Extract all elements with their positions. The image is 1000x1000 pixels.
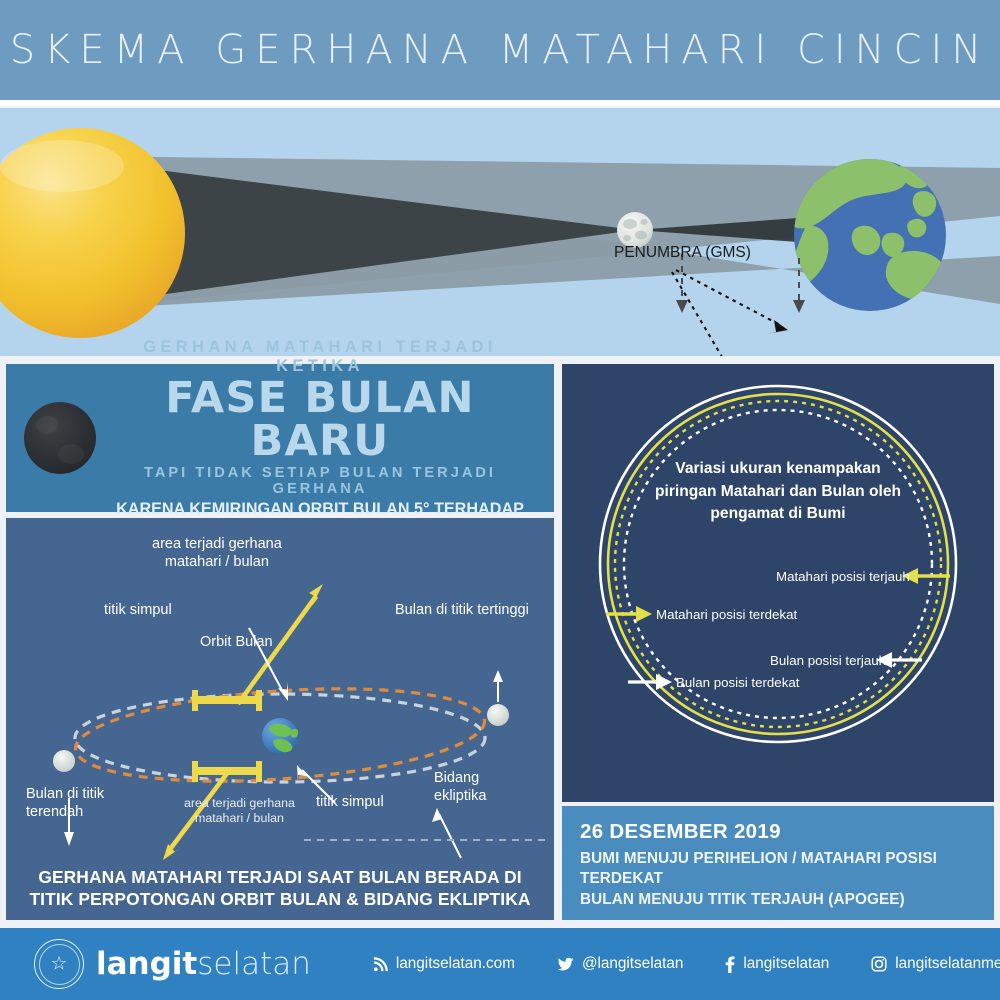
social-link-instagram[interactable]: langitselatanmedia (871, 955, 1000, 973)
twitter-icon (557, 957, 574, 972)
lunar-orbit-panel: area terjadi gerhana matahari / bulan ti… (6, 518, 554, 920)
eclipse-geometry-diagram: PENUMBRA (GMS) UMBRA (GMT) ANTUMBRA (GMC… (0, 108, 1000, 356)
event-date: 26 DESEMBER 2019 (580, 820, 994, 844)
social-label-instagram: langitselatanmedia (895, 955, 1000, 973)
event-notes: BUMI MENUJU PERIHELION / MATAHARI POSISI… (580, 849, 994, 910)
label-ecliptic-l2: ekliptika (434, 788, 486, 806)
node-marker-top (192, 690, 262, 711)
social-link-twitter[interactable]: @langitselatan (557, 955, 683, 973)
label-moon-far: Bulan posisi terjauh (770, 653, 886, 668)
rings-title: Variasi ukuran kenampakan piringan Matah… (628, 458, 928, 526)
new-moon-icon (24, 402, 96, 474)
infographic-root: SKEMA GERHANA MATAHARI CINCIN (0, 0, 1000, 1000)
seal-ring (35, 940, 83, 988)
label-eclipse-area-top-l2: matahari / bulan (152, 554, 282, 572)
social-label-facebook: langitselatan (743, 955, 829, 973)
langitselatan-seal-logo[interactable]: ☆ (34, 939, 84, 989)
orbit-svg (6, 518, 554, 920)
label-node-bottom: titik simpul (316, 794, 384, 812)
label-moon-low-l2: terendah (26, 804, 104, 822)
social-label-twitter: @langitselatan (582, 955, 683, 973)
eclipse-svg (0, 108, 1000, 356)
phase-line-3: TAPI TIDAK SETIAP BULAN TERJADI GERHANA (96, 465, 544, 497)
rings-title-l2: piringan Matahari dan Bulan oleh (628, 481, 928, 504)
label-node-top: titik simpul (104, 602, 172, 620)
label-eclipse-area-top-l1: area terjadi gerhana (152, 536, 282, 554)
brand-bold: langit (96, 946, 197, 982)
rss-icon (373, 957, 388, 972)
facebook-icon (725, 956, 735, 973)
moon-highest-point (487, 704, 509, 726)
footer-bar: ☆ langitselatan langitselatan.com (0, 928, 1000, 1000)
event-note-l1: BUMI MENUJU PERIHELION / MATAHARI POSISI… (580, 849, 994, 890)
label-ecliptic-plane: Bidang ekliptika (434, 770, 486, 805)
label-moon-near: Bulan posisi terdekat (676, 675, 799, 690)
penumbra-leader-arrows (672, 270, 782, 356)
social-link-facebook[interactable]: langitselatan (725, 955, 829, 973)
umbra-arrowhead (676, 300, 688, 313)
moon-high-arrowhead (493, 670, 503, 682)
rings-title-l3: pengamat di Bumi (628, 503, 928, 526)
page-title: SKEMA GERHANA MATAHARI CINCIN (10, 27, 991, 73)
orbit-caption: GERHANA MATAHARI TERJADI SAAT BULAN BERA… (6, 866, 554, 910)
rings-title-l1: Variasi ukuran kenampakan (628, 458, 928, 481)
penumbra-arrowhead-1 (766, 320, 788, 334)
ring-moon-near (624, 410, 932, 718)
brand-light: selatan (197, 946, 311, 982)
antumbra-arrowhead (793, 300, 805, 313)
moon-low-arrowhead (64, 832, 74, 846)
label-moon-highest: Bulan di titik tertinggi (395, 602, 529, 620)
event-note-l2: BULAN MENUJU TITIK TERJAUH (APOGEE) (580, 890, 994, 910)
social-links-row: langitselatan.com @langitselatan langits… (373, 955, 1000, 973)
social-link-website[interactable]: langitselatan.com (373, 955, 515, 973)
apparent-size-panel: Variasi ukuran kenampakan piringan Matah… (562, 364, 994, 802)
label-sun-far: Matahari posisi terjauh (776, 569, 910, 584)
orbit-caption-l2: TITIK PERPOTONGAN ORBIT BULAN & BIDANG E… (6, 888, 554, 910)
header-divider (0, 100, 1000, 106)
social-label-website: langitselatan.com (396, 955, 515, 973)
moon-sphere (617, 212, 653, 248)
earth-center-icon (262, 718, 298, 754)
label-penumbra: PENUMBRA (GMS) (614, 244, 751, 262)
brand-wordmark[interactable]: langitselatan (96, 949, 311, 980)
label-moon-low-l1: Bulan di titik (26, 786, 104, 804)
label-sun-near: Matahari posisi terdekat (656, 607, 797, 622)
new-moon-phase-panel: GERHANA MATAHARI TERJADI KETIKA FASE BUL… (6, 364, 554, 512)
label-moon-lowest: Bulan di titik terendah (26, 786, 104, 821)
orbit-caption-l1: GERHANA MATAHARI TERJADI SAAT BULAN BERA… (6, 866, 554, 888)
moon-lowest-point (53, 750, 75, 772)
instagram-icon (871, 956, 887, 972)
label-eclipse-area-bottom-l1: area terjadi gerhana (184, 796, 295, 811)
label-eclipse-area-top: area terjadi gerhana matahari / bulan (152, 536, 282, 571)
label-ecliptic-l1: Bidang (434, 770, 486, 788)
seal-horse-icon: ☆ (50, 955, 67, 974)
phase-text-block: GERHANA MATAHARI TERJADI KETIKA FASE BUL… (96, 338, 554, 537)
label-eclipse-area-bottom-l2: matahari / bulan (184, 811, 295, 826)
phase-line-1: GERHANA MATAHARI TERJADI KETIKA (96, 338, 544, 376)
label-orbit-bulan: Orbit Bulan (200, 634, 273, 652)
label-eclipse-area-bottom: area terjadi gerhana matahari / bulan (184, 796, 295, 826)
phase-line-2: FASE BULAN BARU (96, 377, 544, 461)
date-info-panel: 26 DESEMBER 2019 BUMI MENUJU PERIHELION … (562, 806, 994, 920)
header-band: SKEMA GERHANA MATAHARI CINCIN (0, 0, 1000, 100)
